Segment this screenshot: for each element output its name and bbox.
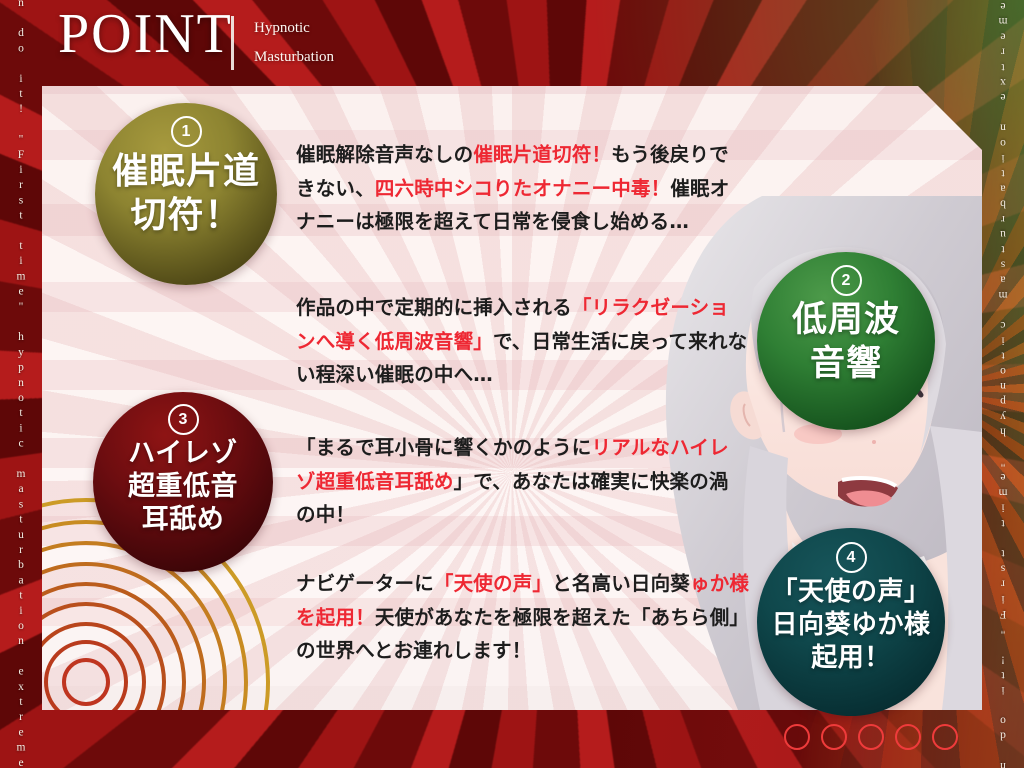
page-indicator-dot[interactable] — [858, 724, 884, 750]
badge-3-text: ハイレゾ 超重低音 耳舐め — [120, 437, 246, 536]
badge-3-number: 3 — [168, 404, 199, 435]
badge-3-line2: 超重低音 — [128, 470, 238, 503]
badge-2-text: 低周波 音響 — [784, 298, 908, 386]
point-1-description: 催眠解除音声なしの催眠片道切符！もう後戻りできない、四六時中シコりたオナニー中毒… — [296, 138, 748, 239]
badge-4-line2: 日向葵ゆか様 — [771, 608, 930, 641]
text4-part1: ナビゲーターに — [296, 572, 434, 595]
side-text-right: Anyone can do it! "First time" hypnotic … — [982, 0, 1024, 768]
page-indicator-dots — [784, 724, 958, 750]
header-subtitle-line1: Hypnotic — [254, 14, 334, 43]
badge-1-number: 1 — [171, 116, 202, 147]
page-indicator-dot[interactable] — [821, 724, 847, 750]
badge-4-number: 4 — [836, 542, 867, 573]
header-subtitle: Hypnotic Masturbation — [254, 14, 334, 72]
point-4-description: ナビゲーターに「天使の声」と名高い日向葵ゅか様を起用！天使があなたを極限を超えた… — [296, 567, 756, 668]
text1-part1: 催眠解除音声なしの — [296, 143, 473, 166]
badge-3[interactable]: 3 ハイレゾ 超重低音 耳舐め — [93, 392, 273, 572]
badge-1[interactable]: 1 催眠片道 切符！ — [95, 103, 277, 285]
badge-2-number: 2 — [831, 265, 862, 296]
point-3-description: 「まるで耳小骨に響くかのようにリアルなハイレゾ超重低音耳舐め」で、あなたは確実に… — [296, 431, 748, 532]
side-text-right-label: Anyone can do it! "First time" hypnotic … — [997, 0, 1009, 768]
text3-part1: 「まるで耳小骨に響くかのように — [296, 436, 592, 459]
badge-2-line1: 低周波 — [792, 298, 900, 342]
text2-part1: 作品の中で定期的に挿入される — [296, 296, 572, 319]
page-title: POINT — [58, 6, 233, 62]
header-subtitle-line2: Masturbation — [254, 43, 334, 72]
text1-highlight1: 催眠片道切符！ — [473, 143, 611, 166]
page-indicator-dot[interactable] — [932, 724, 958, 750]
header: POINT Hypnotic Masturbation — [42, 0, 982, 90]
poster-canvas: Anyone can do it! "First time" hypnotic … — [0, 0, 1024, 768]
badge-3-line1: ハイレゾ — [128, 437, 238, 470]
point-2-description: 作品の中で定期的に挿入される「リラクゼーションへ導く低周波音響」で、日常生活に戻… — [296, 291, 748, 392]
badge-3-line3: 耳舐め — [128, 503, 238, 536]
side-text-left: Anyone can do it! "First time" hypnotic … — [0, 0, 42, 768]
badge-4[interactable]: 4 「天使の声」 日向葵ゆか様 起用！ — [757, 528, 945, 716]
badge-2-line2: 音響 — [792, 342, 900, 386]
text4-part2: と名高い日向葵 — [552, 572, 690, 595]
text4-highlight1: 「天使の声」 — [434, 572, 552, 595]
badge-4-text: 「天使の声」 日向葵ゆか様 起用！ — [763, 575, 938, 674]
badge-1-text: 催眠片道 切符！ — [104, 149, 268, 237]
badge-4-line3: 起用！ — [771, 641, 930, 674]
badge-2[interactable]: 2 低周波 音響 — [757, 252, 935, 430]
badge-1-line1: 催眠片道 — [112, 149, 260, 193]
badge-1-line2: 切符！ — [112, 193, 260, 237]
page-indicator-dot[interactable] — [784, 724, 810, 750]
side-text-left-label: Anyone can do it! "First time" hypnotic … — [15, 0, 27, 768]
page-indicator-dot[interactable] — [895, 724, 921, 750]
badge-4-line1: 「天使の声」 — [771, 575, 930, 608]
header-divider — [231, 16, 234, 70]
text1-highlight2: 四六時中シコりたオナニー中毒！ — [375, 177, 671, 200]
